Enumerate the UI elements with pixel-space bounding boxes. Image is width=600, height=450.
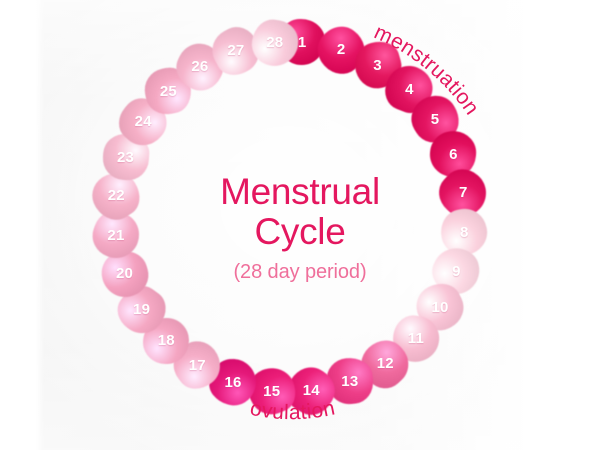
cycle-day-28[interactable]: 28 bbox=[252, 20, 298, 66]
menstrual-cycle-diagram: 1234567891011121314151617181920212223242… bbox=[0, 0, 600, 450]
cycle-day-ring: 1234567891011121314151617181920212223242… bbox=[0, 0, 600, 450]
day-number-label: 28 bbox=[252, 20, 298, 66]
